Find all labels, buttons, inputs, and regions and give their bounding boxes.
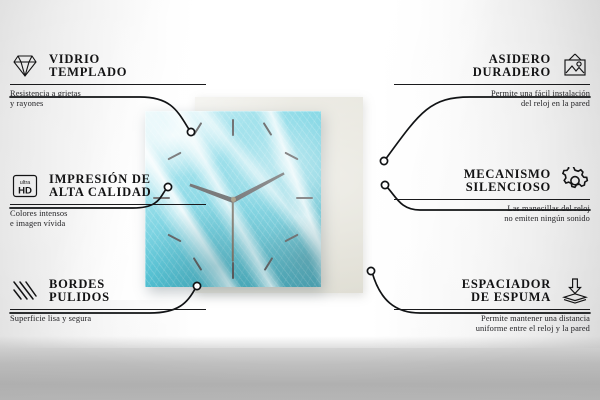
hanging-picture-frame-icon — [560, 52, 590, 80]
arrow-onto-layers-icon — [560, 277, 590, 305]
ultra-hd-large-text: HD — [18, 186, 32, 197]
feature-title-line1: MECANISMO — [464, 168, 551, 182]
feature-desc-line1: Resistencia a grietas — [10, 89, 206, 99]
feature-title-line1: ESPACIADOR — [462, 278, 551, 292]
feature-rule — [10, 204, 206, 205]
feature-desc-line2: del reloj en la pared — [394, 99, 590, 109]
feature-desc-line2: y rayones — [10, 99, 206, 109]
feature-mecanismo-silencioso: MECANISMO SILENCIOSO Las manecillas del … — [394, 167, 590, 225]
feature-desc-line1: Permite mantener una distancia — [394, 314, 590, 324]
diamond-icon — [10, 52, 40, 80]
feature-title-line2: DURADERO — [473, 66, 551, 80]
feature-title-line1: IMPRESIÓN DE — [49, 173, 151, 187]
gear-icon — [560, 167, 590, 195]
feature-desc-line1: Las manecillas del reloj — [394, 204, 590, 214]
feature-title-line2: DE ESPUMA — [462, 291, 551, 305]
feature-title-line1: ASIDERO — [473, 53, 551, 67]
feature-title-line2: SILENCIOSO — [464, 181, 551, 195]
feature-title-line2: ALTA CALIDAD — [49, 186, 151, 200]
feature-desc-line2: uniforme entre el reloj y la pared — [394, 324, 590, 334]
feature-title-line1: BORDES — [49, 278, 110, 292]
feature-title-line2: TEMPLADO — [49, 66, 127, 80]
feature-vidrio-templado: VIDRIO TEMPLADO Resistencia a grietas y … — [10, 52, 206, 110]
infographic-canvas: VIDRIO TEMPLADO Resistencia a grietas y … — [0, 0, 600, 400]
floor-edge — [0, 336, 600, 348]
feature-asidero-duradero: ASIDERO DURADERO Permite una fácil insta… — [394, 52, 590, 110]
feature-bordes-pulidos: BORDES PULIDOS Superficie lisa y segura — [10, 277, 206, 324]
ultra-hd-badge-icon: ultra HD — [10, 172, 40, 200]
feature-espaciador-de-espuma: ESPACIADOR DE ESPUMA Permite mantener un… — [394, 277, 590, 335]
feature-rule — [394, 84, 590, 85]
feature-desc-line1: Colores intensos — [10, 209, 206, 219]
feature-rule — [394, 309, 590, 310]
feature-impresion-alta-calidad: ultra HD IMPRESIÓN DE ALTA CALIDAD Color… — [10, 172, 206, 230]
feature-desc-line1: Superficie lisa y segura — [10, 314, 206, 324]
feature-desc-line2: no emiten ningún sonido — [394, 214, 590, 224]
feature-title-line1: VIDRIO — [49, 53, 127, 67]
feature-desc-line1: Permite una fácil instalación — [394, 89, 590, 99]
feature-rule — [10, 309, 206, 310]
feature-rule — [394, 199, 590, 200]
feature-rule — [10, 84, 206, 85]
polished-edges-icon — [10, 277, 40, 305]
feature-title-line2: PULIDOS — [49, 291, 110, 305]
feature-desc-line2: e imagen vívida — [10, 219, 206, 229]
floor-strip — [0, 348, 600, 400]
